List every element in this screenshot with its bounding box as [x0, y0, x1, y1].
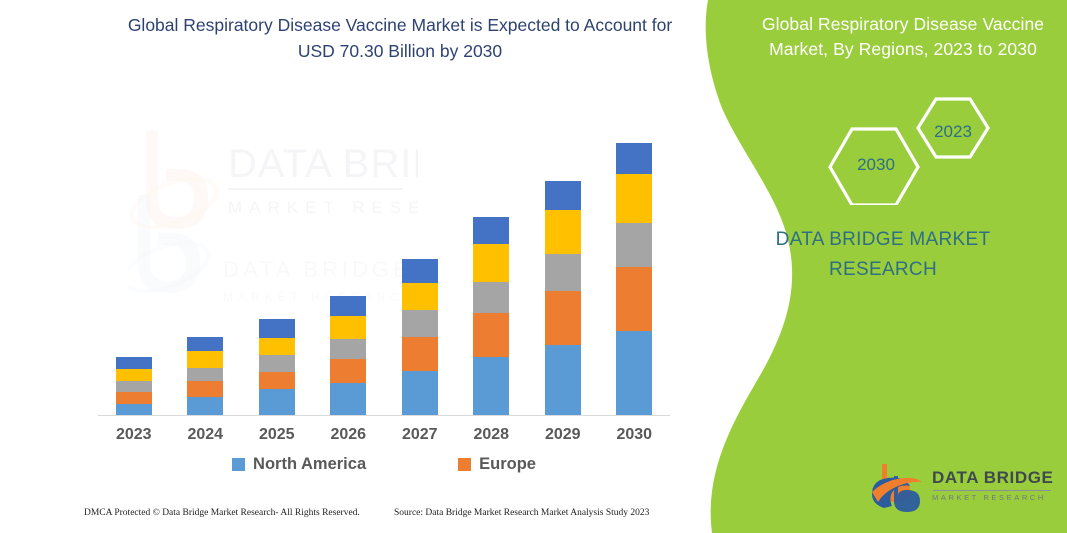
bar-segment	[545, 345, 581, 416]
bar-segment	[116, 381, 152, 392]
bar-column	[241, 121, 313, 416]
bar-segment	[616, 331, 652, 416]
legend-label: North America	[253, 455, 366, 474]
bar-stack-2030	[616, 143, 652, 416]
bar-column	[456, 121, 528, 416]
bar-stack-2024	[187, 337, 223, 416]
bar-segment	[259, 355, 295, 371]
bar-segment	[330, 339, 366, 360]
bar-column	[313, 121, 385, 416]
brand-logo-mark-icon	[870, 462, 928, 514]
category-axis-line	[98, 415, 670, 416]
bar-segment	[330, 359, 366, 382]
bar-segment	[616, 143, 652, 174]
bar-segment	[402, 259, 438, 283]
bar-segment	[259, 338, 295, 356]
hexagon-2023-label: 2023	[913, 122, 993, 142]
bar-stack-2026	[330, 296, 366, 416]
legend-item[interactable]: North America	[232, 455, 366, 474]
bar-segment	[116, 369, 152, 381]
bar-segment	[187, 368, 223, 382]
bar-segment	[473, 357, 509, 416]
hexagon-group: 2030 2023	[808, 95, 1028, 205]
x-axis-label-2023: 2023	[98, 426, 170, 444]
chart-plot-area: DATA BRIDGE MARKET RESEARCH DATA BRIDGE …	[98, 120, 670, 416]
legend-swatch-icon	[232, 458, 245, 471]
bar-segment	[616, 174, 652, 223]
bar-segment	[402, 337, 438, 372]
bar-segment	[116, 357, 152, 369]
legend-item[interactable]: Europe	[458, 455, 536, 474]
bar-segment	[473, 217, 509, 243]
bar-column	[384, 121, 456, 416]
page-title: Global Respiratory Disease Vaccine Marke…	[120, 12, 680, 64]
bar-segment	[473, 313, 509, 358]
panel-brand-name: DATA BRIDGE MARKET RESEARCH	[728, 225, 1038, 285]
bar-segment	[187, 337, 223, 351]
bar-segment	[402, 283, 438, 310]
x-axis-label-2026: 2026	[313, 426, 385, 444]
panel-title: Global Respiratory Disease Vaccine Marke…	[748, 12, 1058, 62]
bar-segment	[545, 254, 581, 290]
bar-segment	[330, 296, 366, 317]
bar-column	[527, 121, 599, 416]
bar-segment	[259, 372, 295, 389]
x-axis-label-2028: 2028	[456, 426, 528, 444]
footer-copyright: DMCA Protected © Data Bridge Market Rese…	[84, 508, 394, 518]
footer-source: Source: Data Bridge Market Research Mark…	[394, 508, 684, 518]
bar-segment	[473, 244, 509, 282]
footer: DMCA Protected © Data Bridge Market Rese…	[84, 508, 684, 518]
bar-stack-2023	[116, 357, 152, 416]
hexagon-pair-icon	[808, 95, 1028, 205]
bar-segment	[473, 282, 509, 313]
bar-segment	[259, 319, 295, 338]
bar-stack-2028	[473, 217, 509, 416]
legend-swatch-icon	[458, 458, 471, 471]
bar-segment	[259, 389, 295, 416]
hexagon-2030-label: 2030	[831, 155, 921, 175]
x-axis-label-2027: 2027	[384, 426, 456, 444]
side-panel: Global Respiratory Disease Vaccine Marke…	[690, 0, 1067, 533]
chart-legend: North AmericaEurope	[98, 455, 670, 474]
bar-column	[599, 121, 671, 416]
bar-column	[98, 121, 170, 416]
bar-segment	[545, 181, 581, 210]
bar-segment	[402, 310, 438, 336]
bar-segment	[616, 223, 652, 267]
bar-segment	[545, 291, 581, 345]
bar-stack-2027	[402, 259, 438, 416]
bar-segment	[616, 267, 652, 331]
legend-label: Europe	[479, 455, 536, 474]
bar-segment	[545, 210, 581, 254]
bar-segment	[116, 392, 152, 403]
bar-segment	[187, 381, 223, 396]
x-axis-labels: 20232024202520262027202820292030	[98, 426, 670, 444]
bar-segment	[330, 383, 366, 416]
brand-logo-title: DATA BRIDGE	[932, 468, 1054, 488]
x-axis-label-2024: 2024	[170, 426, 242, 444]
bar-segment	[330, 316, 366, 339]
bar-column	[170, 121, 242, 416]
infographic-root: Global Respiratory Disease Vaccine Marke…	[0, 0, 1067, 533]
brand-logo: DATA BRIDGE MARKET RESEARCH	[870, 462, 1060, 517]
x-axis-label-2030: 2030	[599, 426, 671, 444]
bar-stack-2029	[545, 181, 581, 416]
bar-segment	[187, 351, 223, 367]
x-axis-label-2029: 2029	[527, 426, 599, 444]
bar-stack-2025	[259, 319, 295, 416]
brand-logo-divider	[933, 490, 1051, 491]
brand-logo-subtitle: MARKET RESEARCH	[932, 493, 1054, 502]
x-axis-label-2025: 2025	[241, 426, 313, 444]
bar-segment	[187, 397, 223, 416]
bar-group	[98, 121, 670, 416]
bar-segment	[402, 371, 438, 416]
